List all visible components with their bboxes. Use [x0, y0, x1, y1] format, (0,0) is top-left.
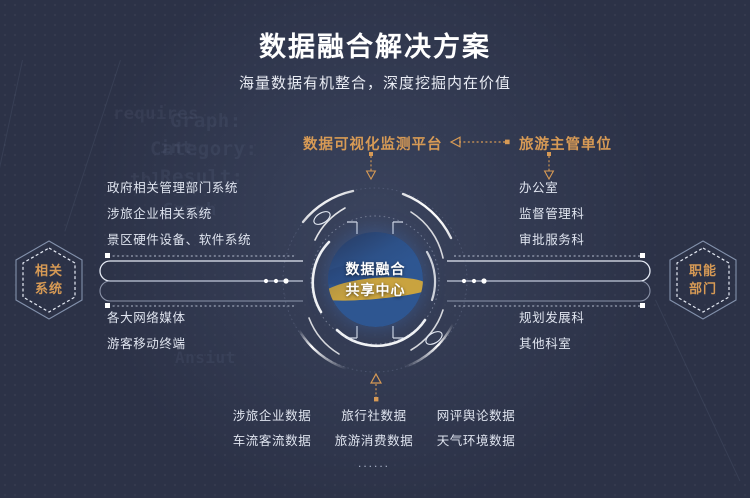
- connector-rail-left: [88, 250, 303, 312]
- list-item[interactable]: 审批服务科: [519, 227, 585, 253]
- diagram-canvas: requires int tbl Graph: Category: Result…: [0, 0, 750, 498]
- background-code-text: requires: [113, 104, 199, 124]
- list-item[interactable]: 办公室: [519, 175, 585, 201]
- hex-left-label: 相关 系统: [12, 238, 86, 322]
- hex-left-line1: 相关: [35, 262, 63, 280]
- arrow-left-dotted-icon: [447, 133, 513, 151]
- grid-cell[interactable]: 网评舆论数据: [428, 404, 524, 429]
- globe-label: 数据融合 共享中心: [328, 232, 423, 327]
- list-item[interactable]: 其他科室: [519, 331, 585, 357]
- grid-ellipsis: ......: [224, 456, 524, 470]
- marker-triangle-up-bottom-icon: [369, 370, 383, 404]
- hex-right-line2: 部门: [689, 280, 717, 298]
- list-left-bottom: 各大网络媒体 游客移动终端: [107, 305, 186, 357]
- grid-cell[interactable]: 涉旅企业数据: [224, 404, 320, 429]
- hex-node-related-systems[interactable]: 相关 系统: [12, 238, 86, 322]
- page-subtitle: 海量数据有机整合，深度挖掘内在价值: [0, 72, 750, 93]
- hex-right-label: 职能 部门: [666, 238, 740, 322]
- background-code-text: Graph:: [170, 110, 242, 132]
- bottom-grid-row: 车流客流数据 旅游消费数据 天气环境数据: [224, 429, 524, 454]
- grid-cell[interactable]: 旅行社数据: [326, 404, 422, 429]
- list-item[interactable]: 各大网络媒体: [107, 305, 186, 331]
- list-item[interactable]: 游客移动终端: [107, 331, 186, 357]
- list-right-bottom: 规划发展科 其他科室: [519, 305, 585, 357]
- list-item[interactable]: 监督管理科: [519, 201, 585, 227]
- label-visualization-platform[interactable]: 数据可视化监测平台: [303, 133, 443, 154]
- grid-cell[interactable]: 车流客流数据: [224, 429, 320, 454]
- list-item[interactable]: 景区硬件设备、软件系统: [107, 227, 251, 253]
- page-title: 数据融合解决方案: [0, 25, 750, 64]
- hex-node-functional-departments[interactable]: 职能 部门: [666, 238, 740, 322]
- grid-cell[interactable]: 旅游消费数据: [326, 429, 422, 454]
- connector-rail-right: [447, 250, 662, 312]
- background-code-text: int: [160, 138, 192, 158]
- globe-line1: 数据融合: [346, 259, 406, 279]
- list-item[interactable]: 涉旅企业相关系统: [107, 201, 251, 227]
- list-left-top: 政府相关管理部门系统 涉旅企业相关系统 景区硬件设备、软件系统: [107, 175, 251, 253]
- label-tourism-authority[interactable]: 旅游主管单位: [519, 133, 612, 154]
- bottom-grid-row: 涉旅企业数据 旅行社数据 网评舆论数据: [224, 404, 524, 429]
- list-right-top: 办公室 监督管理科 审批服务科: [519, 175, 585, 253]
- list-item[interactable]: 规划发展科: [519, 305, 585, 331]
- hex-left-line2: 系统: [35, 280, 63, 298]
- globe-line2: 共享中心: [346, 280, 406, 300]
- bottom-data-grid: 涉旅企业数据 旅行社数据 网评舆论数据 车流客流数据 旅游消费数据 天气环境数据…: [224, 404, 524, 470]
- center-hub: 数据融合 共享中心: [275, 160, 475, 400]
- grid-cell[interactable]: 天气环境数据: [428, 429, 524, 454]
- hex-right-line1: 职能: [689, 262, 717, 280]
- list-item[interactable]: 政府相关管理部门系统: [107, 175, 251, 201]
- background-code-text: Category:: [150, 138, 257, 160]
- background-diagonal-line: [655, 300, 740, 482]
